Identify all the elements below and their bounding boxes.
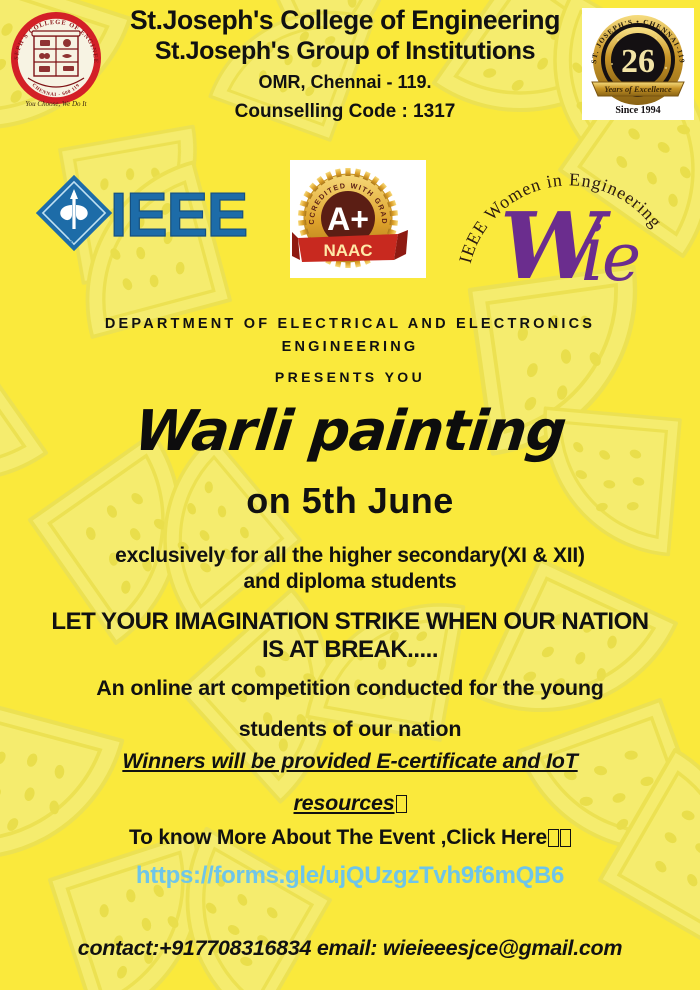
svg-text:You Choose, We Do It: You Choose, We Do It	[25, 100, 87, 108]
institution-name-line2: St.Joseph's Group of Institutions	[110, 36, 580, 66]
counselling-code: Counselling Code : 1317	[110, 101, 580, 124]
college-seal-logo: ST. JOSEPH'S COLLEGE OF ENGINEERING CHEN…	[6, 6, 106, 111]
slogan-line1: LET YOUR IMAGINATION STRIKE WHEN OUR NAT…	[0, 608, 700, 636]
naac-accreditation-badge: ACCREDITED WITH GRADE A+ NAAC	[290, 160, 426, 278]
prize-line2: resources	[294, 791, 395, 815]
poster: ST. JOSEPH'S COLLEGE OF ENGINEERING CHEN…	[0, 0, 700, 990]
ieee-women-in-engineering-logo: IEEE Women in Engineering W i e	[452, 152, 680, 297]
slogan-line2: IS AT BREAK.....	[0, 636, 700, 664]
institution-address: OMR, Chennai - 119.	[110, 72, 580, 94]
svg-text:NAAC: NAAC	[323, 241, 372, 260]
institution-name-line1: St.Joseph's College of Engineering	[110, 6, 580, 36]
cta-block: To know More About The Event ,Click Here	[0, 826, 700, 850]
about-block: An online art competition conducted for …	[0, 668, 700, 750]
department-line1: DEPARTMENT OF ELECTRICAL AND ELECTRONICS	[0, 313, 700, 336]
audience-line2: and diploma students	[0, 569, 700, 595]
poster-header: ST. JOSEPH'S COLLEGE OF ENGINEERING CHEN…	[0, 0, 700, 150]
svg-text:A+: A+	[327, 201, 369, 237]
26-years-of-excellence-badge: ST. JOSEPH'S • CHENNAI-119 26 Years of E…	[582, 8, 694, 120]
presents-you-label: PRESENTS YOU	[0, 366, 700, 388]
audience-line1: exclusively for all the higher secondary…	[0, 543, 700, 569]
slogan-block: LET YOUR IMAGINATION STRIKE WHEN OUR NAT…	[0, 608, 700, 665]
event-title: Warli painting	[0, 404, 700, 460]
prize-line1: Winners will be provided E-certificate a…	[122, 749, 577, 773]
svg-text:Years of Excellence: Years of Excellence	[604, 85, 672, 94]
cta-label: To know More About The Event ,Click Here	[129, 826, 547, 849]
registration-form-link[interactable]: https://forms.gle/ujQUzgzTvh9f6mQB6	[0, 862, 700, 890]
department-block: DEPARTMENT OF ELECTRICAL AND ELECTRONICS…	[0, 313, 700, 388]
header-text-block: St.Joseph's College of Engineering St.Jo…	[110, 6, 580, 124]
svg-text:26: 26	[621, 43, 655, 80]
contact-footer: contact:+917708316834 email: wieieeesjce…	[0, 936, 700, 961]
svg-text:IEEE: IEEE	[110, 181, 247, 250]
missing-glyph-icon	[560, 829, 571, 847]
audience-block: exclusively for all the higher secondary…	[0, 543, 700, 594]
missing-glyph-icon	[548, 829, 559, 847]
svg-text:®: ®	[68, 237, 74, 246]
svg-text:Since 1994: Since 1994	[615, 105, 660, 116]
svg-text:e: e	[602, 219, 641, 296]
about-line1: An online art competition conducted for …	[0, 668, 700, 709]
missing-glyph-icon	[396, 795, 407, 813]
logo-strip: ® IEEE	[0, 152, 700, 292]
ieee-logo: ® IEEE	[36, 174, 261, 252]
event-date: on 5th June	[0, 480, 700, 522]
prize-block: Winners will be provided E-certificate a…	[0, 741, 700, 825]
department-line2: ENGINEERING	[0, 336, 700, 359]
